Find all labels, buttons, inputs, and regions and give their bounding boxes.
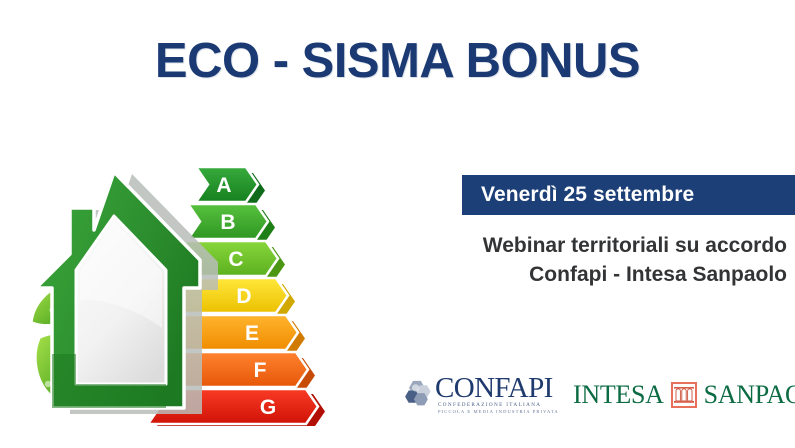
- subtitle-line-1: Webinar territoriali su accordo: [317, 232, 787, 261]
- confapi-hexagon-icon: [405, 380, 435, 408]
- subtitle-line-2: Confapi - Intesa Sanpaolo: [317, 261, 787, 290]
- confapi-logo: CONFAPI CONFEDERAZIONE ITALIANA PICCOLA …: [405, 374, 557, 420]
- confapi-wordmark: CONFAPI: [435, 374, 553, 403]
- confapi-tagline-line-1: CONFEDERAZIONE ITALIANA: [438, 402, 541, 408]
- date-banner-text: Venerdì 25 settembre: [462, 183, 694, 207]
- page-title: ECO - SISMA BONUS: [0, 33, 795, 89]
- subtitle-block: Webinar territoriali su accordo Confapi …: [317, 232, 787, 290]
- sanpaolo-wordmark: SANPAOLO: [704, 382, 795, 408]
- intesa-wordmark: INTESA: [573, 382, 664, 408]
- date-banner: Venerdì 25 settembre: [462, 175, 795, 215]
- intesa-sanpaolo-logo: INTESA SANPAOLO: [573, 378, 795, 412]
- energy-house-illustration: A B C D E: [18, 158, 338, 426]
- poster-canvas: ECO - SISMA BONUS: [0, 0, 795, 448]
- house-arrow-icon: [18, 158, 338, 426]
- intesa-building-icon: [671, 382, 697, 408]
- logo-row: CONFAPI CONFEDERAZIONE ITALIANA PICCOLA …: [405, 370, 790, 422]
- confapi-tagline-line-2: PICCOLA E MEDIA INDUSTRIA PRIVATA: [438, 409, 559, 414]
